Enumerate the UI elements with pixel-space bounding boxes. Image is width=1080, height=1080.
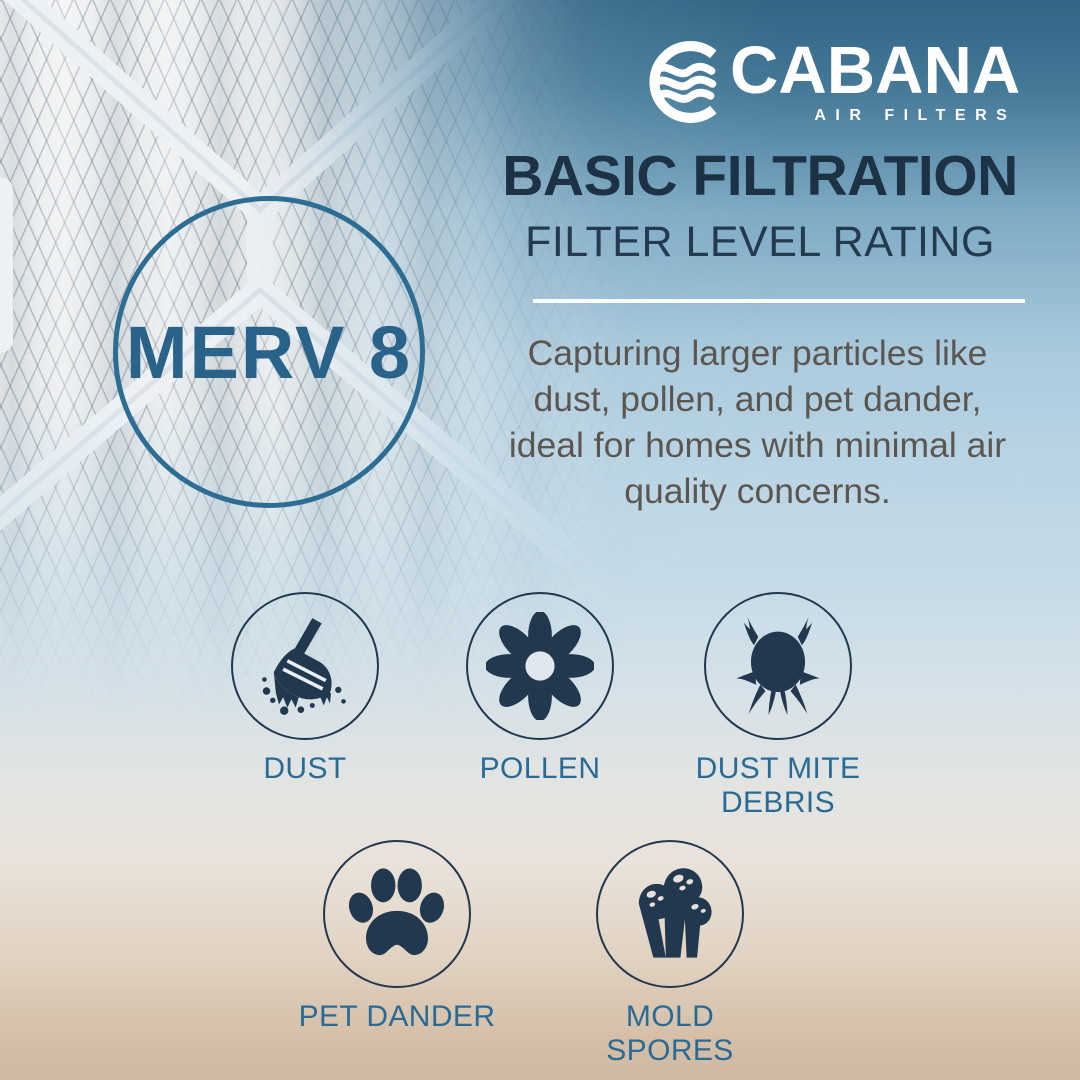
paw-print-icon — [344, 861, 450, 967]
description-text: Capturing larger particles like dust, po… — [465, 330, 1050, 515]
particle-item-dust[interactable]: DUST — [205, 592, 405, 786]
page-title: BASIC FILTRATION — [470, 148, 1050, 205]
particle-item-pollen[interactable]: POLLEN — [440, 592, 640, 786]
cabana-wave-logo-icon — [636, 36, 728, 128]
flower-pollen-icon — [486, 612, 594, 720]
brand-wordmark: CABANA AIR FILTERS — [730, 39, 1020, 124]
particle-label: PET DANDER — [297, 1000, 497, 1034]
header-block: BASIC FILTRATION FILTER LEVEL RATING — [470, 148, 1050, 264]
description-line: Capturing larger particles like — [465, 330, 1050, 376]
merv-rating-label: MERV 8 — [113, 196, 425, 508]
dust-icon-circle — [231, 592, 379, 740]
particle-label: DUST MITE DEBRIS — [678, 752, 878, 819]
brand-name: CABANA — [730, 39, 1020, 103]
pet-dander-icon-circle — [323, 840, 471, 988]
brand-tagline: AIR FILTERS — [814, 107, 1016, 125]
particle-label: MOLD SPORES — [570, 1000, 770, 1067]
description-line: quality concerns. — [465, 468, 1050, 514]
particle-label: POLLEN — [440, 752, 640, 786]
page-subtitle: FILTER LEVEL RATING — [470, 221, 1050, 264]
infographic-canvas: MERV 8 CABANA AIR FILTERS BASIC FILTRATI… — [0, 0, 1080, 1080]
brand-logo[interactable]: CABANA AIR FILTERS — [636, 36, 1020, 128]
particle-label: DUST — [205, 752, 405, 786]
particle-item-mold-spores[interactable]: MOLD SPORES — [570, 840, 770, 1067]
particle-item-dust-mite[interactable]: DUST MITE DEBRIS — [678, 592, 878, 819]
description-line: dust, pollen, and pet dander, — [465, 376, 1050, 422]
header-divider — [533, 299, 1025, 303]
pollen-icon-circle — [466, 592, 614, 740]
dust-mite-icon — [726, 614, 830, 718]
description-line: ideal for homes with minimal air — [465, 422, 1050, 468]
particle-item-pet-dander[interactable]: PET DANDER — [297, 840, 497, 1034]
mold-spores-icon — [618, 862, 722, 966]
mold-spores-icon-circle — [596, 840, 744, 988]
broom-dust-icon — [253, 614, 357, 718]
dust-mite-icon-circle — [704, 592, 852, 740]
